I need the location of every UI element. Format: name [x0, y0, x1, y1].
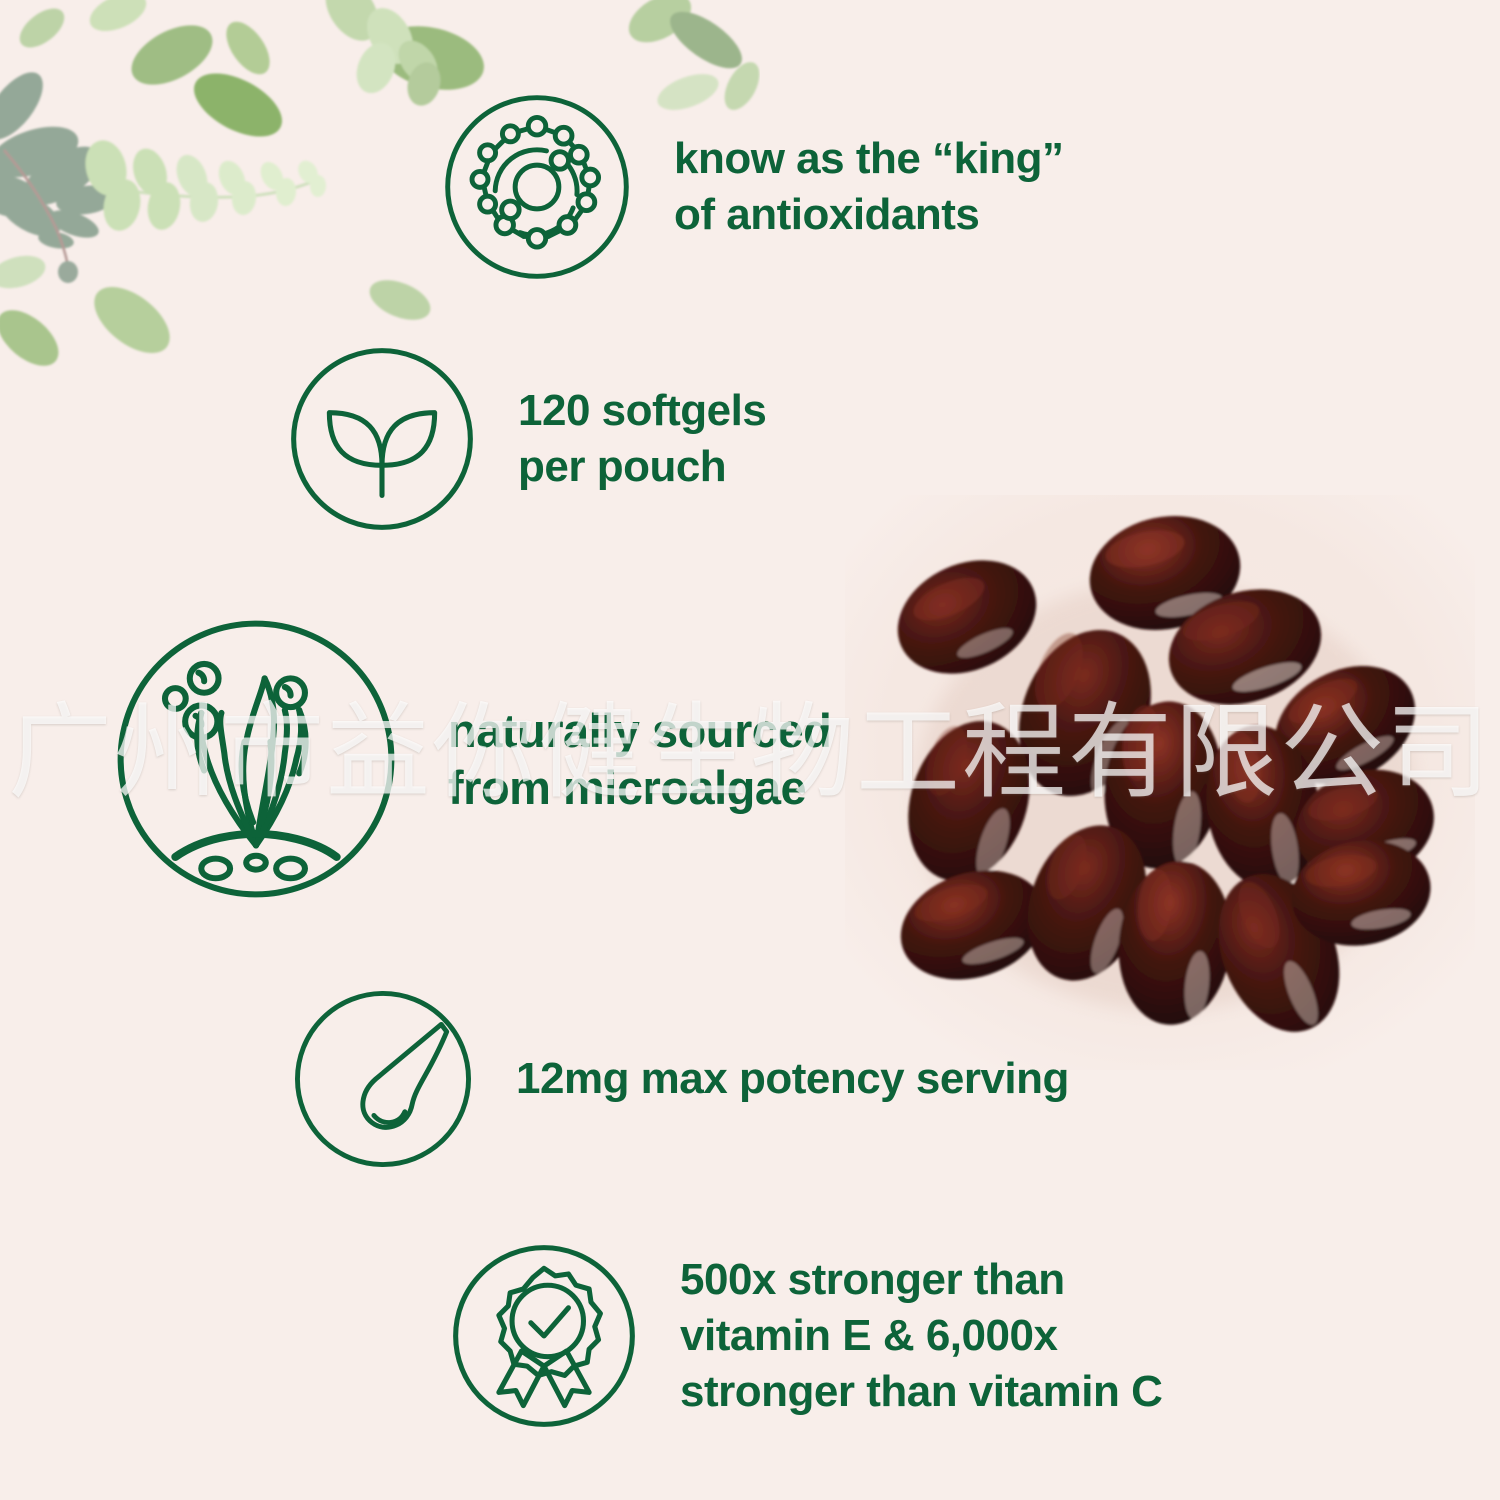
- leaf-right: [382, 413, 435, 466]
- leaf-shape: [256, 158, 288, 194]
- capsule: [1283, 830, 1439, 957]
- feature-strength: 500x stronger than vitamin E & 6,000x st…: [450, 1242, 1162, 1430]
- leaf-shape: [0, 250, 49, 293]
- capsule: [995, 610, 1174, 816]
- leaf-shape: [83, 274, 182, 366]
- leaf-shape: [275, 177, 297, 206]
- leaf-shape: [122, 13, 222, 97]
- feature-softgels: 120 softgels per pouch: [288, 345, 766, 533]
- leaf-shape: [13, 1, 71, 55]
- leaf-shape: [0, 63, 54, 149]
- leaf-shape: [14, 135, 111, 217]
- feature-potency: 12mg max potency serving: [292, 988, 1069, 1170]
- leaf-shape: [661, 1, 750, 79]
- leaf-shape: [187, 180, 220, 224]
- leaf-shape: [315, 0, 390, 50]
- product-infographic: know as the “king” of antioxidants 120 s…: [0, 0, 1500, 1500]
- molecule-node: [480, 196, 496, 212]
- seaweed-algae-icon: [112, 615, 400, 903]
- leaf-shape: [54, 182, 117, 218]
- leaf-shape: [0, 165, 50, 227]
- eucalyptus-sprig: [0, 63, 118, 251]
- leaf-shape: [144, 180, 184, 233]
- leaf-shape: [373, 16, 490, 100]
- spoon-scoop-icon: [292, 988, 474, 1170]
- leaf-shape: [0, 300, 68, 377]
- leaf-shape: [218, 14, 279, 82]
- rosette-inner-circle: [512, 1285, 583, 1356]
- leaf-shape: [214, 157, 251, 200]
- leaf-shape: [364, 272, 436, 327]
- feature-antioxidant: know as the “king” of antioxidants: [442, 92, 1064, 282]
- molecule-ring-icon: [442, 92, 632, 282]
- molecule-node: [578, 194, 595, 211]
- leaf-shape: [350, 37, 403, 99]
- leaf-shape: [80, 136, 132, 200]
- capsule: [1079, 502, 1251, 643]
- leaf-shape: [184, 60, 292, 149]
- pebble: [246, 856, 266, 870]
- leaf-shape: [171, 150, 213, 201]
- capsule: [1196, 718, 1330, 896]
- leaf-shape: [127, 144, 172, 200]
- berry: [58, 261, 78, 283]
- molecule-node: [551, 152, 568, 169]
- capsule: [1111, 856, 1240, 1031]
- sprout-leaves-icon: [288, 345, 476, 533]
- feature-softgels-label: 120 softgels per pouch: [518, 383, 766, 496]
- vine-leaves: [80, 136, 327, 234]
- capsule: [1007, 809, 1167, 998]
- capsule: [880, 539, 1055, 694]
- molecule-node: [555, 127, 572, 144]
- capsule: [1254, 643, 1435, 808]
- leaf-shape: [294, 157, 322, 187]
- molecule-node: [480, 145, 496, 161]
- softgel-capsule-photo: [845, 495, 1475, 1070]
- feature-antioxidant-label: know as the “king” of antioxidants: [674, 131, 1064, 244]
- vine-stem: [352, 18, 414, 74]
- capsule: [1283, 754, 1447, 896]
- leaf-shape: [621, 0, 700, 52]
- check-mark: [531, 1308, 569, 1336]
- feature-potency-label: 12mg max potency serving: [516, 1051, 1069, 1107]
- leaf-shape: [391, 33, 446, 91]
- molecule-node: [570, 146, 587, 163]
- molecule-node: [528, 230, 545, 247]
- capsule: [1196, 856, 1361, 1050]
- molecule-node: [502, 126, 518, 142]
- molecule-node: [559, 217, 576, 234]
- vine-stem: [96, 181, 314, 197]
- leaf-shape: [358, 0, 423, 72]
- bubble: [165, 688, 186, 709]
- award-ribbon-check-icon: [450, 1242, 638, 1430]
- leaf-shape: [310, 175, 327, 198]
- stem: [4, 150, 68, 266]
- feature-microalgae-label: naturally sourced from microalgae: [448, 702, 831, 817]
- molecule-node: [472, 171, 488, 187]
- spoon-inner-curve: [374, 1112, 405, 1123]
- icon-outline-circle: [297, 993, 468, 1164]
- leaf-shape: [84, 0, 152, 39]
- leaf-shape: [403, 58, 446, 109]
- leaf-left: [329, 413, 382, 466]
- capsule: [887, 853, 1060, 998]
- leaf-shape: [0, 182, 68, 245]
- capsule: [1154, 571, 1336, 724]
- leaf-shape: [230, 180, 257, 216]
- molecule-node: [528, 117, 545, 134]
- capsule: [1094, 694, 1232, 877]
- molecule-node: [582, 169, 599, 186]
- feature-strength-label: 500x stronger than vitamin E & 6,000x st…: [680, 1252, 1162, 1421]
- pebble: [276, 859, 305, 879]
- ribbon-tail-right: [544, 1351, 589, 1406]
- icon-outline-circle: [294, 351, 471, 528]
- leaf-shape: [46, 205, 102, 243]
- ribbon-tail-left: [499, 1351, 544, 1406]
- leaf-shape: [0, 117, 85, 187]
- leaf-shape: [378, 46, 406, 50]
- feature-microalgae: naturally sourced from microalgae: [112, 615, 831, 903]
- molecule-node: [502, 201, 519, 218]
- pebble: [201, 859, 230, 879]
- algae-frond: [242, 742, 254, 823]
- capsule: [888, 705, 1049, 897]
- leaf-shape: [99, 176, 145, 234]
- leaf-shape: [37, 229, 75, 251]
